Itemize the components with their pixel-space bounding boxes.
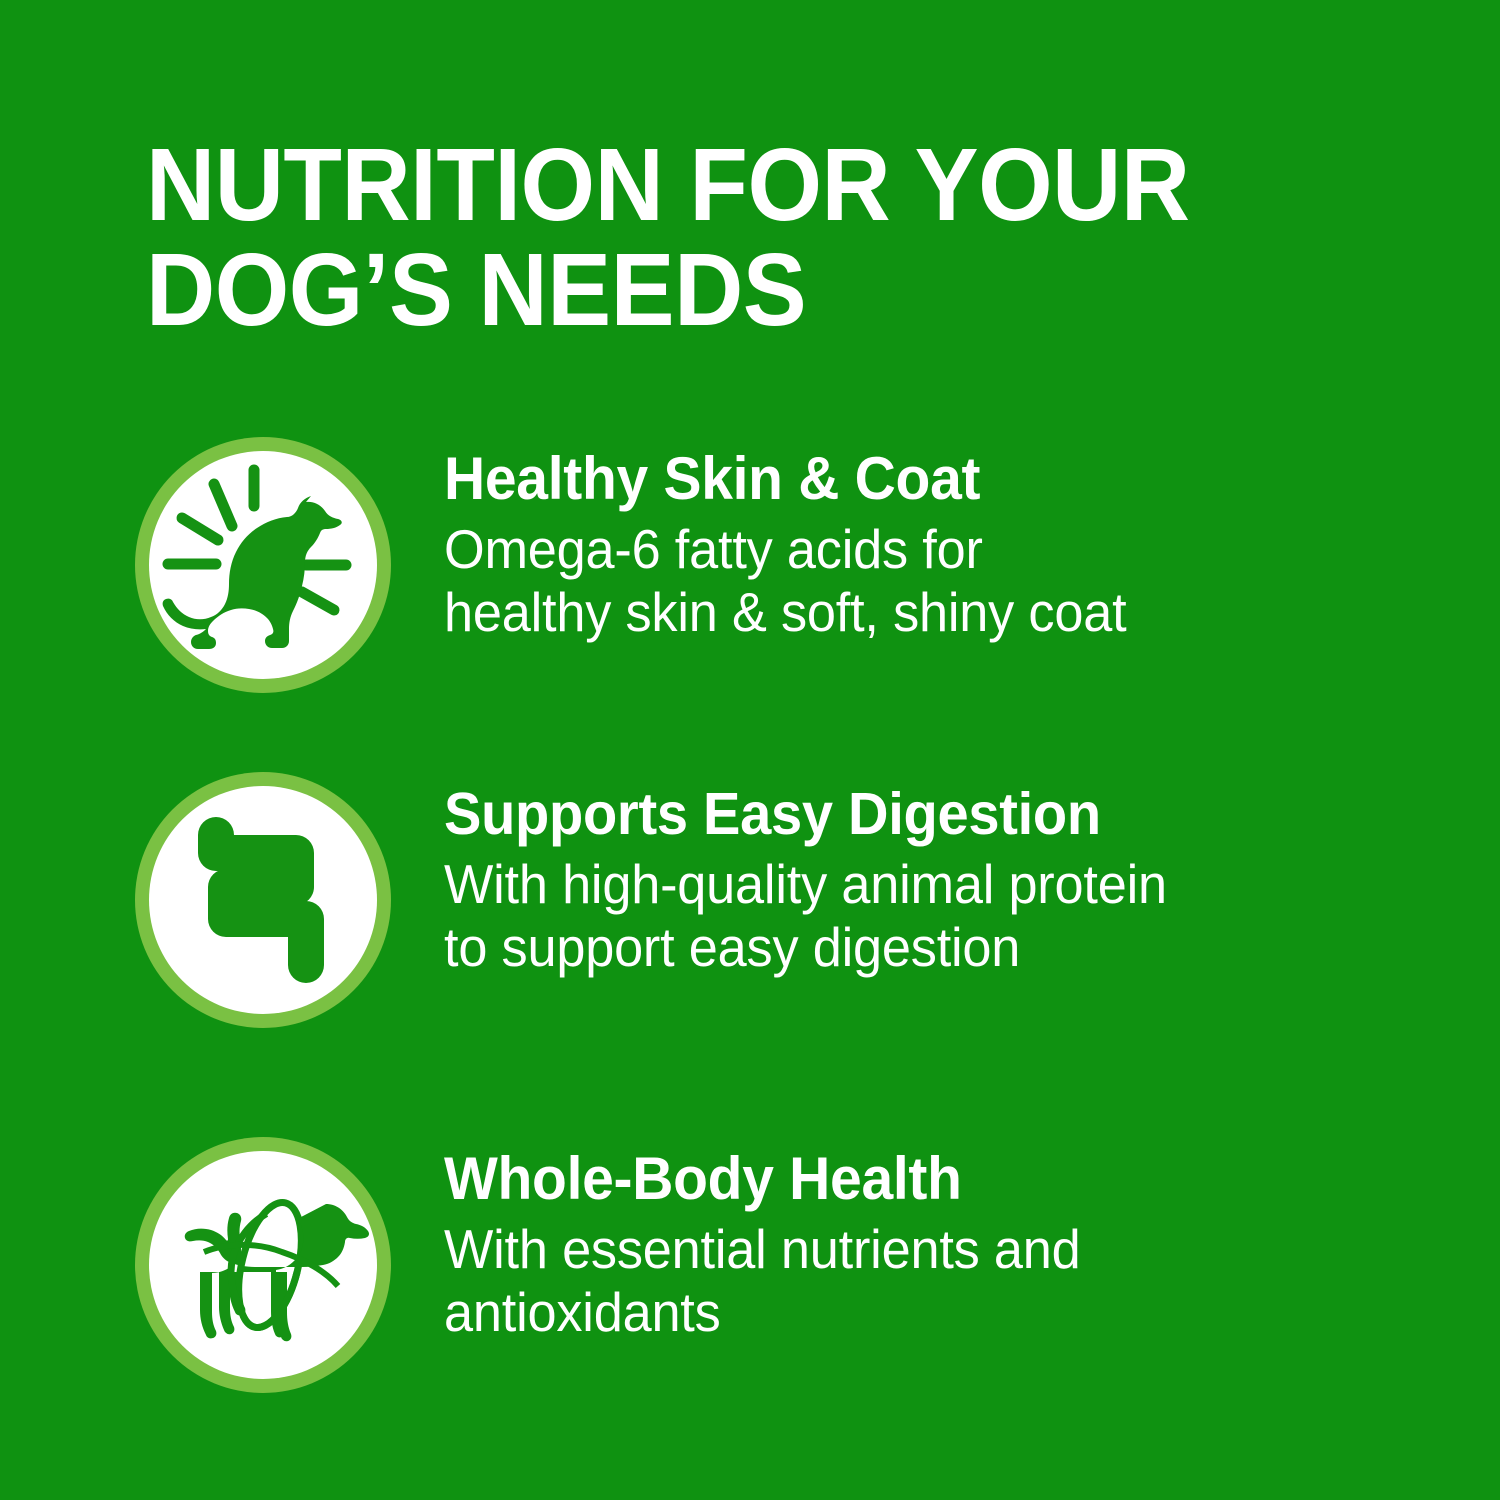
shiny-dog-icon — [130, 432, 396, 698]
benefit-row-whole-body-health: Whole-Body Health With essential nutrien… — [130, 1132, 1430, 1398]
benefit-row-healthy-skin-coat: Healthy Skin & Coat Omega-6 fatty acids … — [130, 432, 1430, 698]
intestine-icon — [130, 767, 396, 1033]
benefit-title: Whole-Body Health — [444, 1146, 1381, 1212]
benefit-description: With essential nutrients and antioxidant… — [444, 1218, 1381, 1344]
benefit-description: With high-quality animal protein to supp… — [444, 853, 1381, 979]
nutrition-benefits-poster: NUTRITION FOR YOUR DOG’S NEEDS — [0, 0, 1500, 1500]
dog-with-orbit-icon — [130, 1132, 396, 1398]
benefit-copy: Whole-Body Health With essential nutrien… — [396, 1132, 1430, 1344]
benefits-list: Healthy Skin & Coat Omega-6 fatty acids … — [0, 0, 1500, 1500]
benefit-row-easy-digestion: Supports Easy Digestion With high-qualit… — [130, 767, 1430, 1033]
benefit-copy: Supports Easy Digestion With high-qualit… — [396, 767, 1430, 979]
benefit-title: Supports Easy Digestion — [444, 781, 1381, 847]
benefit-copy: Healthy Skin & Coat Omega-6 fatty acids … — [396, 432, 1430, 644]
benefit-description: Omega-6 fatty acids for healthy skin & s… — [444, 518, 1381, 644]
benefit-title: Healthy Skin & Coat — [444, 446, 1381, 512]
